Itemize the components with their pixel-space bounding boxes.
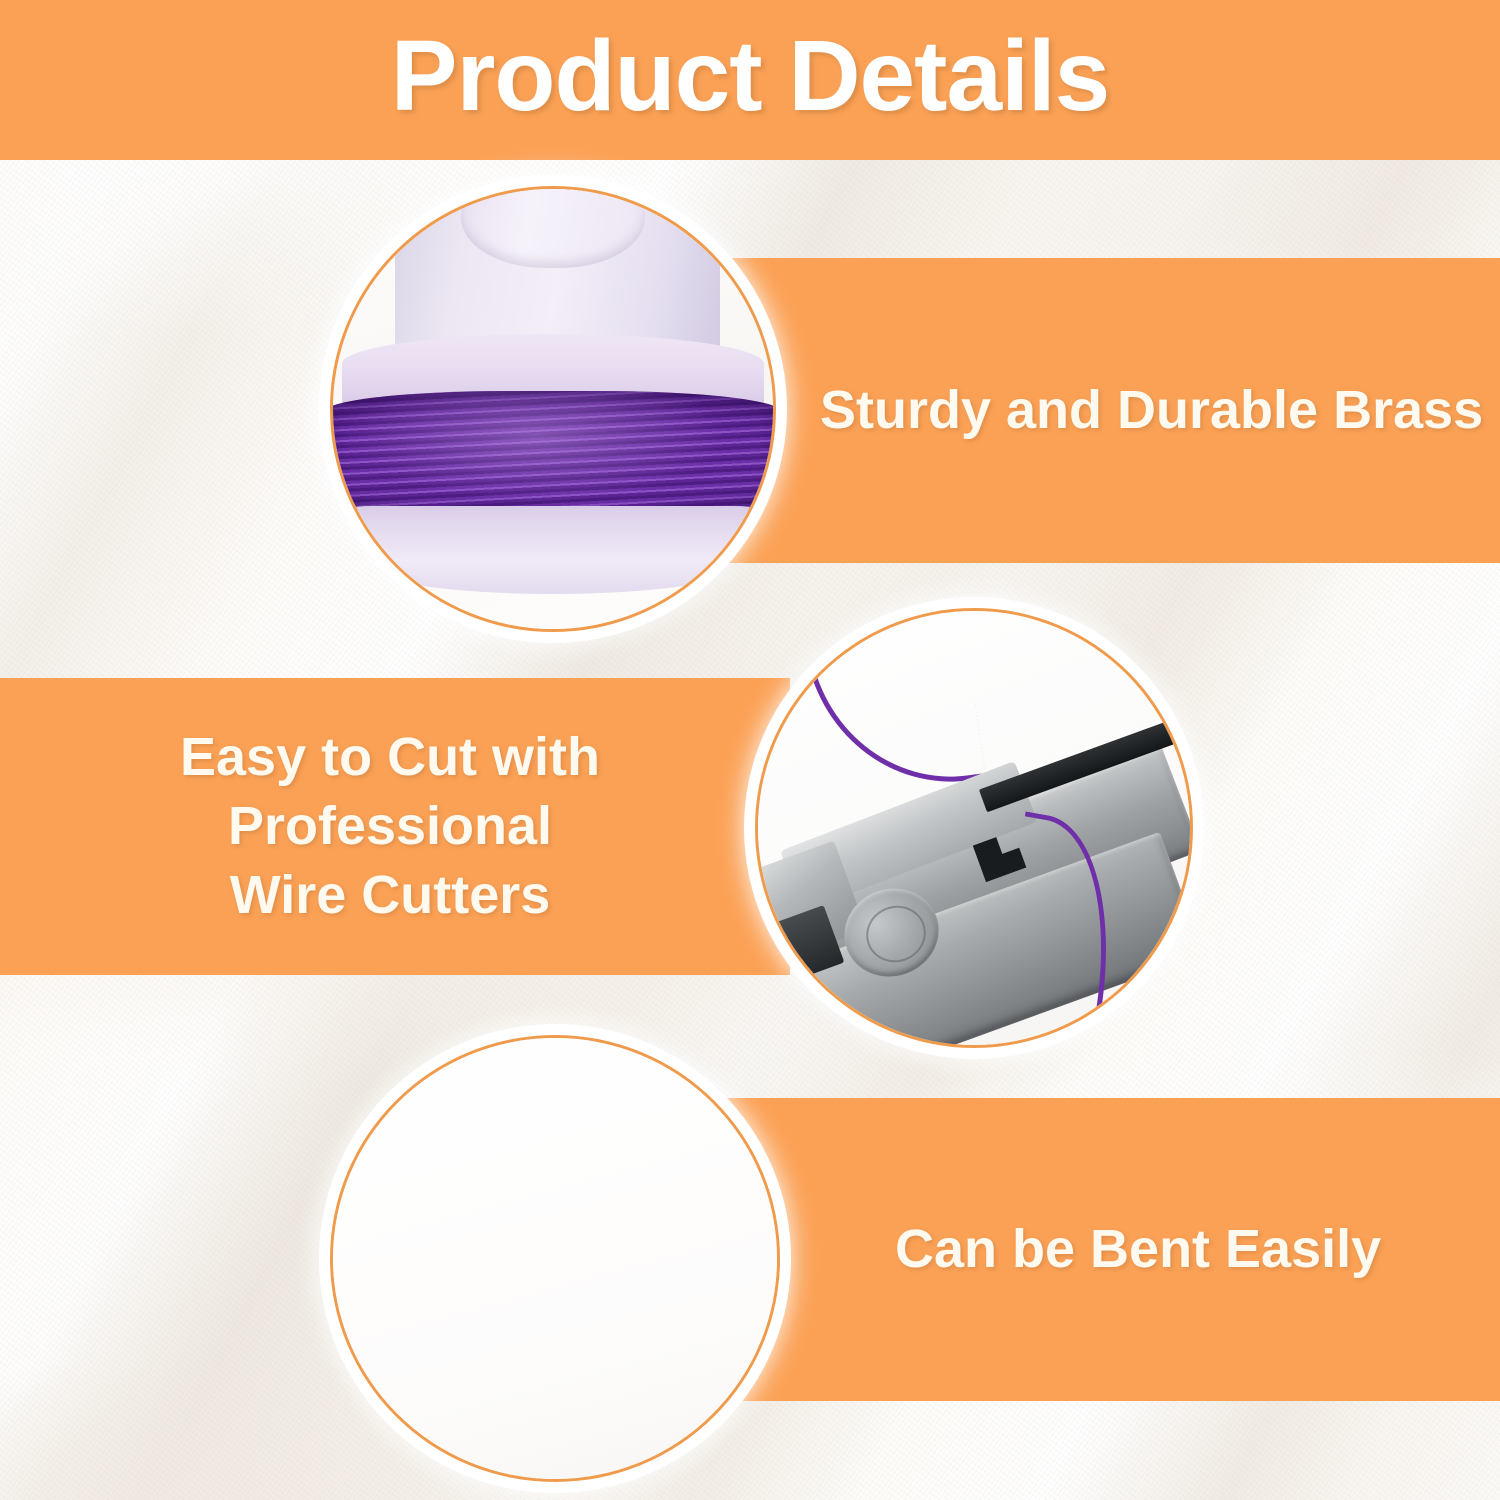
feature-label-easy-cut: Easy to Cut with Professional Wire Cutte… [0,723,740,930]
feature-label-easy-cut-line2: Wire Cutters [40,861,740,930]
bent-purple-wire-photo [330,1035,780,1482]
page-title: Product Details [391,26,1110,126]
purple-wire-spool-photo [330,186,776,632]
wire-sheen [330,391,776,523]
feature-band-easy-cut: Easy to Cut with Professional Wire Cutte… [0,678,790,975]
feature-label-easy-cut-line1: Easy to Cut with Professional [40,723,740,861]
spool-flange-bottom [337,506,768,594]
wire-cutter-pliers-photo [755,608,1193,1048]
product-details-infographic: Product Details Sturdy and Durable Brass… [0,0,1500,1500]
header-banner: Product Details [0,0,1500,160]
